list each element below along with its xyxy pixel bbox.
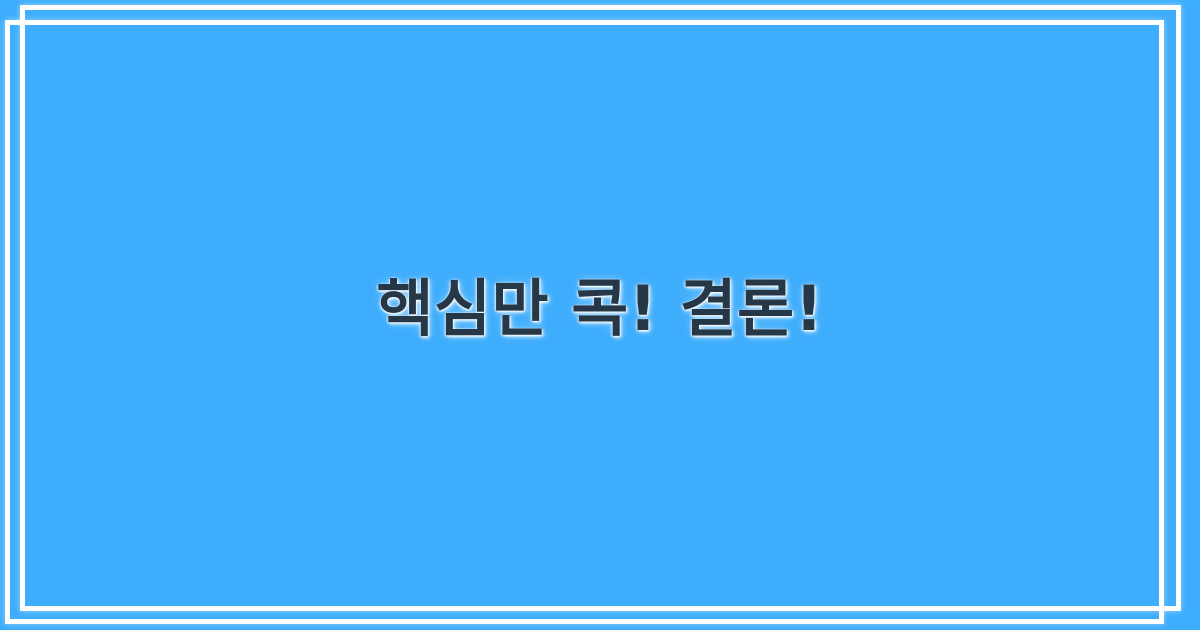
thumbnail-card: 핵심만 콕! 결론!: [0, 0, 1200, 630]
headline-container: 핵심만 콕! 결론!: [0, 0, 1200, 630]
headline-text: 핵심만 콕! 결론!: [337, 270, 864, 348]
